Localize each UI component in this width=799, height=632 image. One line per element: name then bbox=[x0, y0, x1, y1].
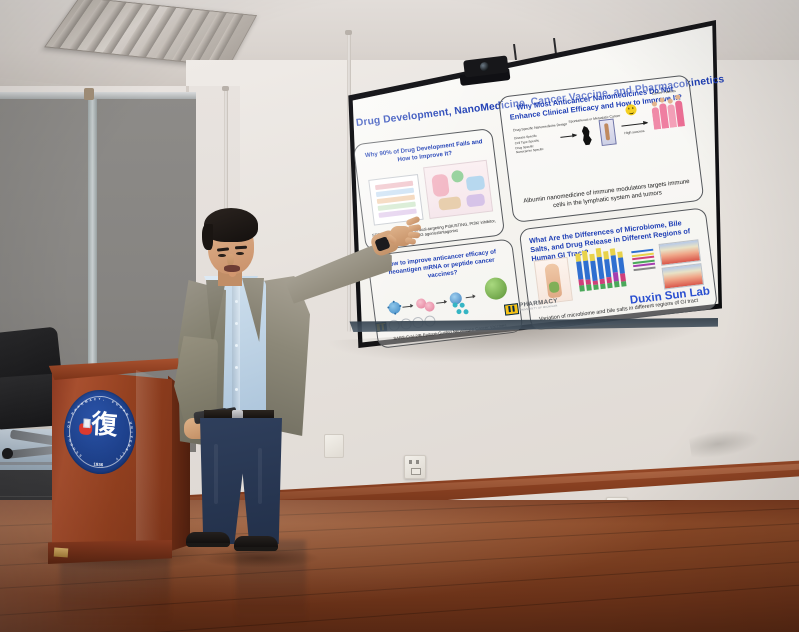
microbiome-stacked-bar-chart bbox=[575, 248, 635, 302]
podium-sheen bbox=[136, 370, 162, 556]
michigan-m-icon bbox=[504, 303, 519, 316]
emblem-char: R bbox=[80, 402, 84, 407]
box-c-arrow-3 bbox=[466, 296, 475, 298]
wall-conduit-cap-left bbox=[222, 86, 229, 91]
emblem-char: V bbox=[129, 435, 133, 438]
box-c-arrow-2 bbox=[436, 302, 446, 304]
emblem-char: F bbox=[66, 421, 70, 424]
box-b-bullets: Disease Specific Cell Type Specific Drug… bbox=[514, 131, 564, 156]
emblem-char: N bbox=[129, 426, 133, 429]
patients-photo bbox=[650, 92, 688, 130]
emblem-char: , bbox=[102, 397, 103, 401]
emblem-char: F bbox=[111, 400, 114, 404]
presenter-pointing-hand bbox=[386, 216, 420, 248]
emblem-chinese-glyph: 復 bbox=[91, 411, 118, 439]
emblem-char: Y bbox=[115, 456, 119, 461]
fudan-pharmacy-emblem: SCHOOL OF PHARMACY, FUDAN UNIVERSITY 復 1… bbox=[62, 387, 138, 477]
emblem-char: E bbox=[128, 440, 132, 443]
brow-left bbox=[217, 247, 229, 251]
emblem-char: O bbox=[69, 443, 74, 447]
webcam-lens-icon bbox=[479, 62, 489, 72]
hair-sideburn bbox=[202, 224, 213, 250]
emblem-char: R bbox=[126, 444, 131, 448]
shoe-left bbox=[234, 536, 278, 551]
microbiome-legend bbox=[631, 249, 656, 273]
lecture-room-photo: Drug Development, NanoMedicine, Cancer V… bbox=[0, 0, 799, 632]
box-b-label-success: High success bbox=[624, 129, 645, 135]
emblem-char: U bbox=[128, 421, 132, 424]
emblem-char: P bbox=[70, 412, 74, 416]
emblem-char: O bbox=[67, 439, 72, 442]
emblem-char: A bbox=[88, 398, 91, 402]
presenter bbox=[180, 196, 410, 566]
emblem-char: H bbox=[73, 408, 78, 412]
bile-salt-heatmap-top bbox=[659, 239, 701, 266]
eye-right bbox=[236, 252, 244, 255]
box-b-arrow-2 bbox=[621, 123, 647, 127]
peptide-cluster-icon bbox=[452, 301, 470, 319]
box-a-illustration bbox=[423, 160, 493, 219]
smiley-icon bbox=[625, 104, 637, 116]
emblem-char: L bbox=[66, 435, 70, 437]
emblem-char: M bbox=[84, 399, 88, 404]
slide-box-anticancer-nanomedicines: Why Most Anticancer Nanomedicines Do Not… bbox=[498, 74, 705, 223]
emblem-char: S bbox=[124, 447, 128, 451]
emblem-char: S bbox=[78, 453, 82, 457]
window-blind-headrail bbox=[0, 92, 196, 99]
mouth bbox=[224, 265, 240, 272]
nanoparticle-icon bbox=[484, 276, 509, 300]
podium-base-trim bbox=[54, 548, 69, 558]
emblem-char: I bbox=[129, 432, 133, 433]
chair-caster-1 bbox=[2, 448, 13, 459]
emblem-char: C bbox=[93, 397, 96, 401]
box-b-caption: Albumin nanomedicine of immune modulator… bbox=[522, 178, 693, 213]
emblem-center: 復 bbox=[76, 408, 124, 456]
shoe-right bbox=[186, 532, 230, 547]
eye-left bbox=[218, 254, 226, 257]
emblem-char: D bbox=[118, 405, 122, 409]
patient-figure-icon bbox=[599, 118, 617, 146]
emblem-char: U bbox=[115, 402, 119, 407]
window-blind-bracket bbox=[84, 88, 94, 100]
cell-icon-2 bbox=[424, 301, 435, 312]
emblem-char: Y bbox=[98, 397, 100, 401]
mouse-icon bbox=[577, 125, 595, 147]
brow-right bbox=[235, 246, 247, 249]
trousers bbox=[200, 418, 282, 544]
box-b-arrow-1 bbox=[560, 135, 576, 138]
emblem-char: O bbox=[66, 425, 70, 428]
podium[interactable]: SCHOOL OF PHARMACY, FUDAN UNIVERSITY 復 1… bbox=[40, 352, 188, 564]
emblem-char: N bbox=[124, 412, 129, 416]
